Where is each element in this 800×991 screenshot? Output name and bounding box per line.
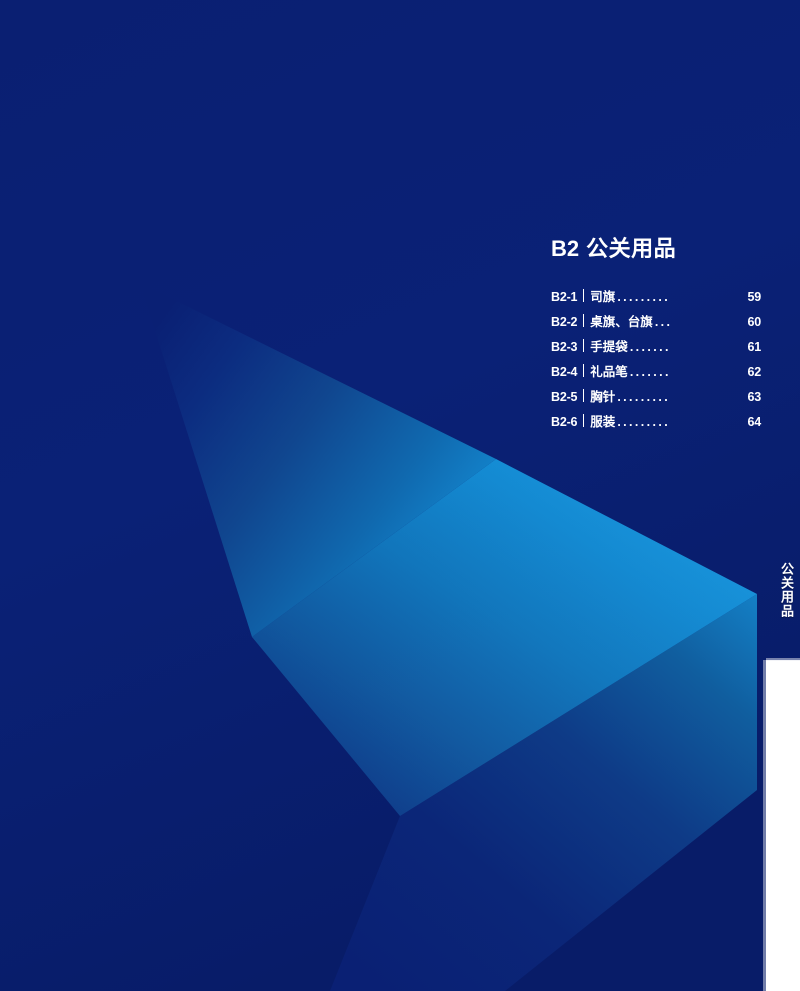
toc-item-name: 手提袋	[590, 339, 628, 355]
page-title: B2公关用品	[551, 236, 761, 262]
toc-item-page: 60	[747, 314, 761, 330]
list-item[interactable]: B2-4 礼品笔 ....... 62	[551, 363, 761, 380]
toc-item-code: B2-3	[551, 339, 577, 355]
toc-item-leader: .......	[630, 339, 747, 355]
toc-item-page: 62	[747, 364, 761, 380]
art-tab-cut-edge	[763, 660, 766, 991]
toc-item-leader: .......	[630, 364, 747, 380]
toc-item-code: B2-4	[551, 364, 577, 380]
section-title-text: 公关用品	[586, 236, 676, 261]
toc-divider-icon	[583, 364, 584, 377]
toc-item-name: 礼品笔	[590, 364, 628, 380]
toc-divider-icon	[583, 314, 584, 327]
toc-item-page: 61	[747, 339, 761, 355]
toc-item-leader: ...	[655, 314, 747, 330]
toc-item-page: 64	[747, 414, 761, 430]
toc-item-page: 63	[747, 389, 761, 405]
toc-item-leader: .........	[617, 289, 746, 305]
toc-item-page: 59	[747, 289, 761, 305]
art-tab-notch-white	[766, 660, 800, 991]
toc-item-name: 司旗	[590, 289, 615, 305]
art-tab-cut-edge-top	[766, 658, 800, 661]
toc-item-code: B2-6	[551, 414, 577, 430]
toc-item-code: B2-5	[551, 389, 577, 405]
toc-item-name: 服装	[590, 414, 615, 430]
section-block: B2公关用品 B2-1 司旗 ......... 59 B2-2 桌旗、台旗 .…	[551, 236, 761, 438]
side-tab-label: 公关用品	[770, 562, 794, 618]
list-item[interactable]: B2-6 服装 ......... 64	[551, 413, 761, 430]
toc-item-code: B2-2	[551, 314, 577, 330]
section-code: B2	[551, 236, 579, 261]
list-item[interactable]: B2-3 手提袋 ....... 61	[551, 338, 761, 355]
toc-divider-icon	[583, 339, 584, 352]
page-root: 公关用品 B2公关用品 B2-1 司旗 ......... 59 B2-2 桌旗…	[0, 0, 800, 991]
toc-divider-icon	[583, 389, 584, 402]
list-item[interactable]: B2-2 桌旗、台旗 ... 60	[551, 313, 761, 330]
toc-item-leader: .........	[617, 389, 746, 405]
toc-divider-icon	[583, 289, 584, 302]
toc-item-name: 桌旗、台旗	[590, 314, 653, 330]
toc-item-code: B2-1	[551, 289, 577, 305]
list-item[interactable]: B2-5 胸针 ......... 63	[551, 388, 761, 405]
toc-divider-icon	[583, 414, 584, 427]
toc-item-name: 胸针	[590, 389, 615, 405]
list-item[interactable]: B2-1 司旗 ......... 59	[551, 288, 761, 305]
table-of-contents: B2-1 司旗 ......... 59 B2-2 桌旗、台旗 ... 60 B…	[551, 288, 761, 430]
background-artwork	[0, 0, 800, 991]
toc-item-leader: .........	[617, 414, 746, 430]
